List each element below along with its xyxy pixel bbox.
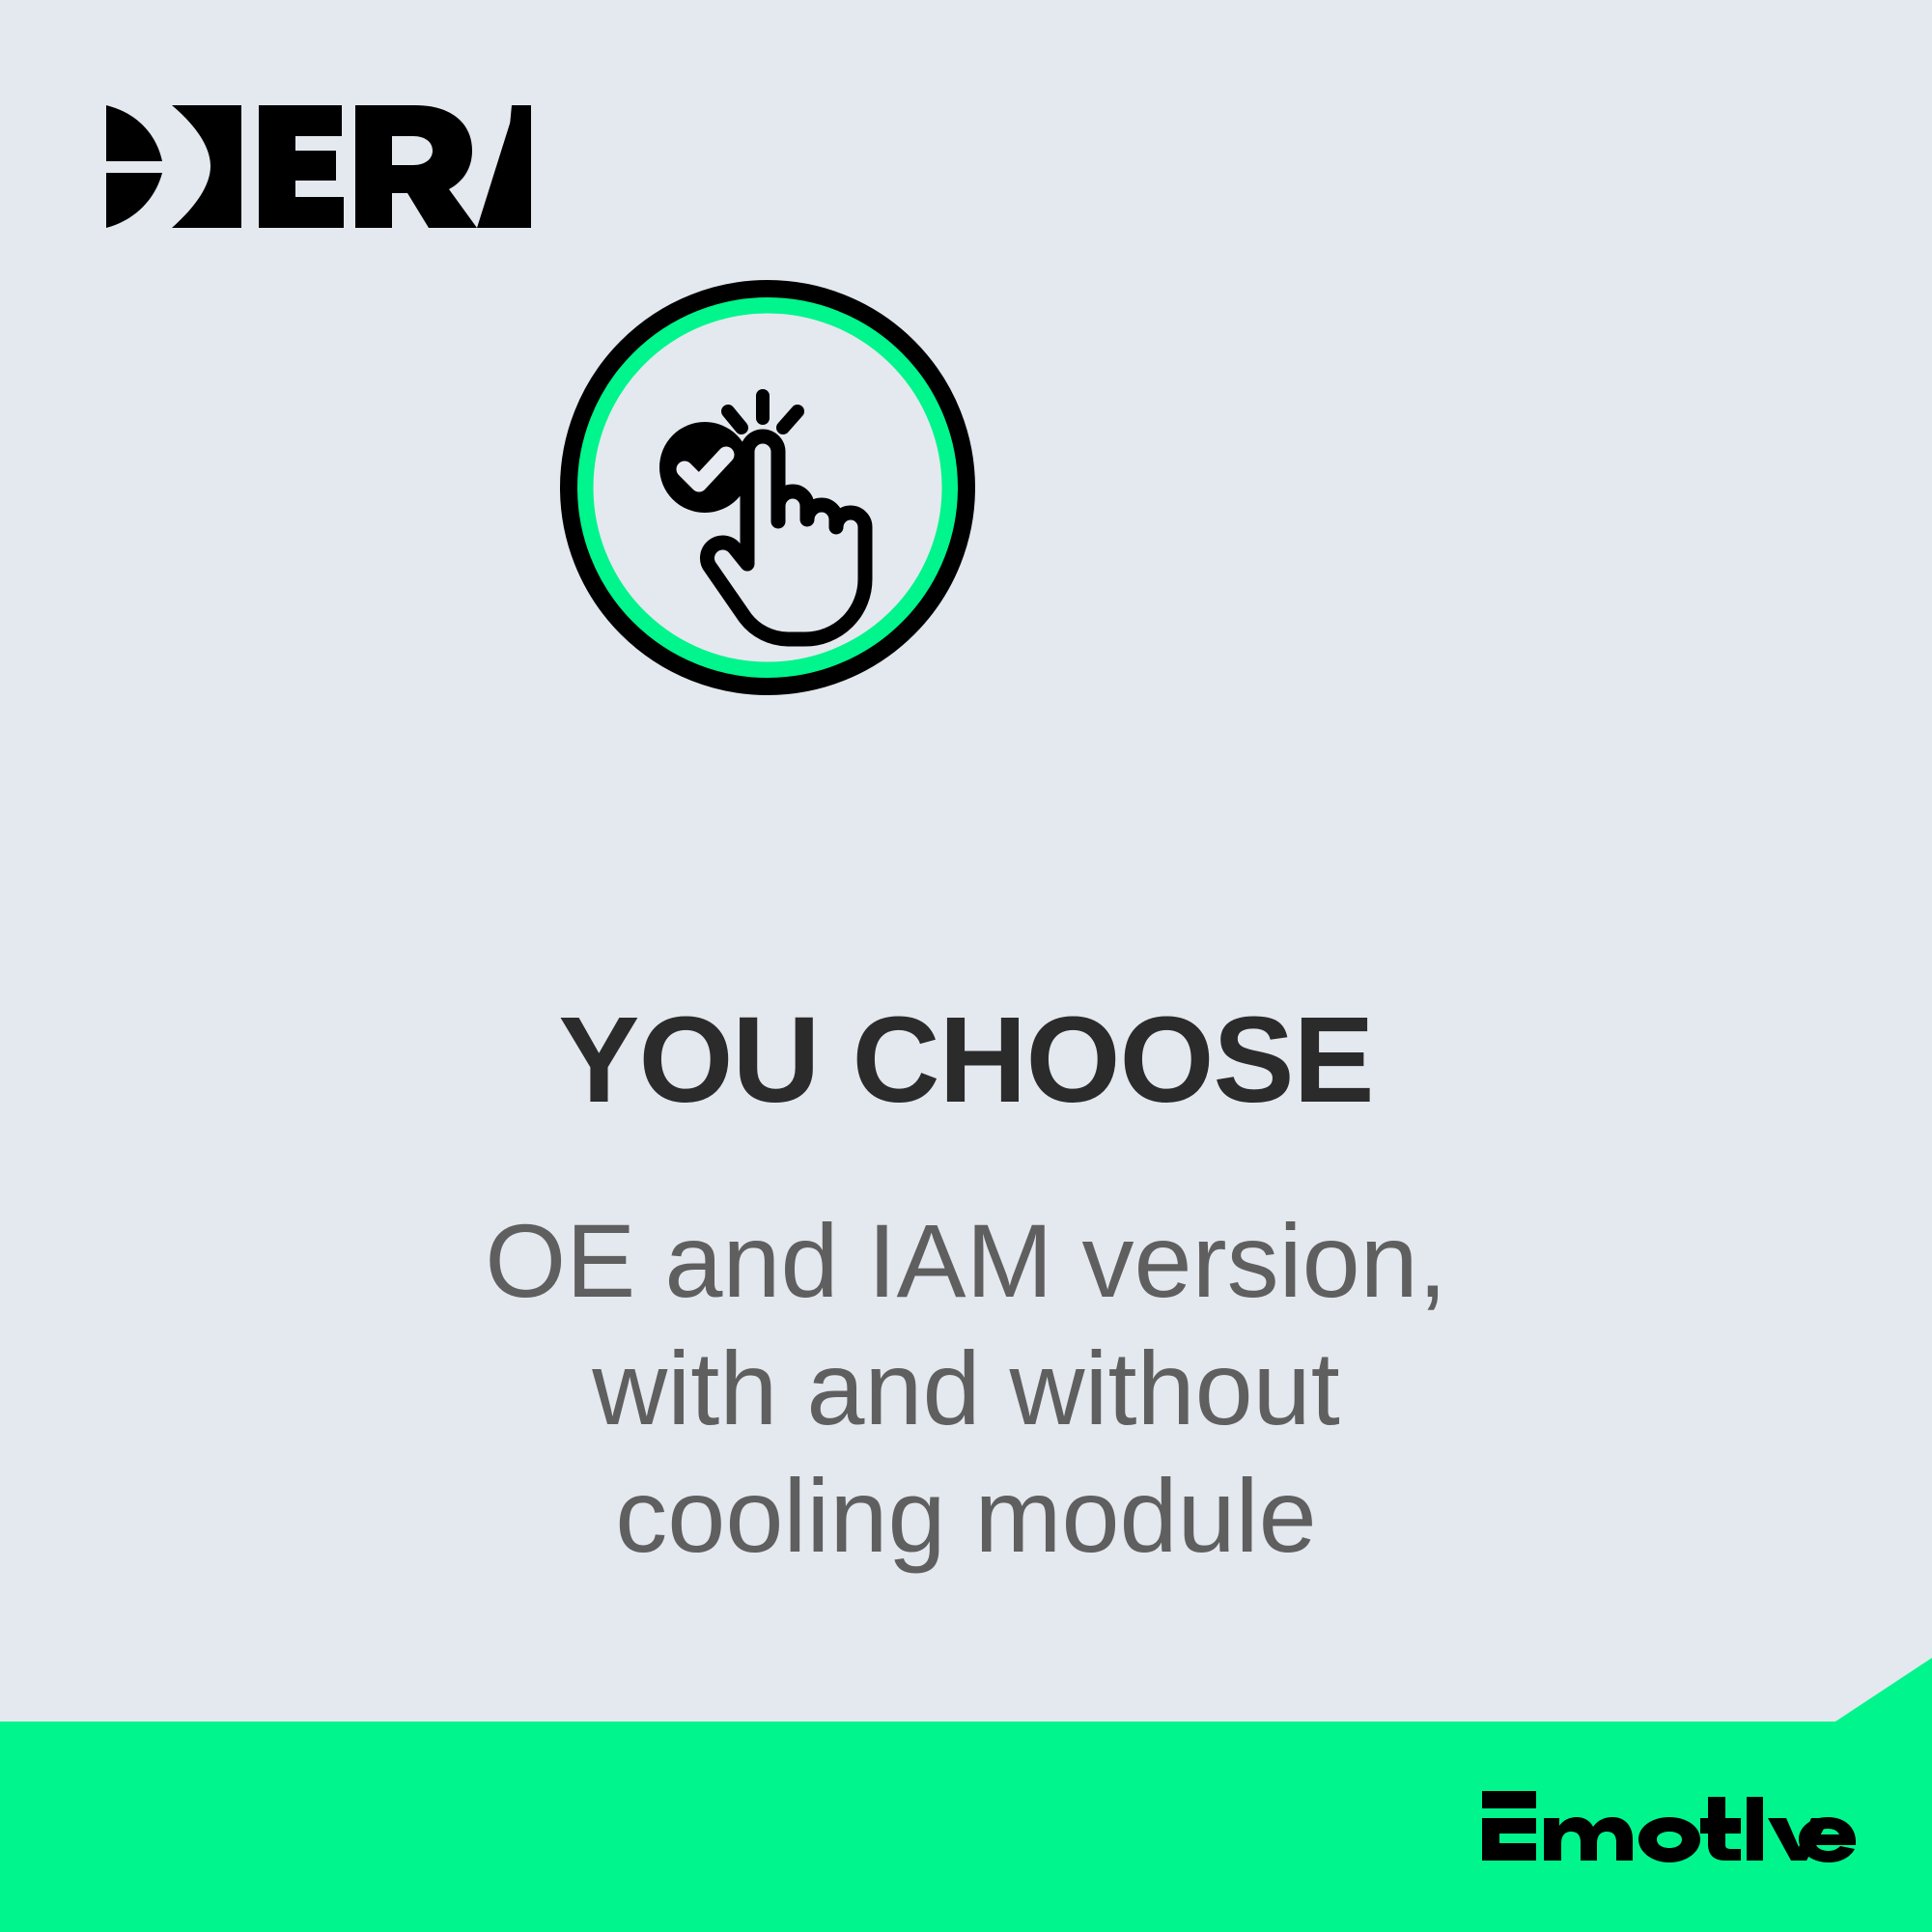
era-d-glyph: [172, 105, 241, 228]
emotive-letter-t: [1700, 1797, 1741, 1861]
era-letter-a: [477, 105, 531, 228]
emotive-letter-o: [1638, 1817, 1700, 1862]
body-copy: OE and IAM version, with and without coo…: [212, 1197, 1720, 1579]
era-letter-r: [355, 105, 477, 228]
emotive-logo: [1480, 1789, 1857, 1878]
emotive-letter-m: [1544, 1817, 1633, 1861]
poster-canvas: YOU CHOOSE OE and IAM version, with and …: [0, 0, 1932, 1932]
body-line-1: OE and IAM version,: [212, 1197, 1720, 1325]
era-logo: [97, 101, 531, 232]
emotive-e-body: [1482, 1818, 1536, 1861]
era-chevron-mark: [106, 105, 162, 228]
era-letter-e: [259, 105, 344, 228]
check-badge-icon: [659, 422, 750, 513]
emotive-letter-i: [1747, 1797, 1763, 1861]
page-title: YOU CHOOSE: [0, 994, 1932, 1126]
footer-banner: [0, 1658, 1932, 1932]
body-line-2: with and without: [212, 1325, 1720, 1452]
emotive-letter-e2: [1799, 1817, 1856, 1862]
emotive-e-topbar: [1482, 1791, 1536, 1808]
body-line-3: cooling module: [212, 1452, 1720, 1580]
hero-icon: [558, 278, 977, 697]
